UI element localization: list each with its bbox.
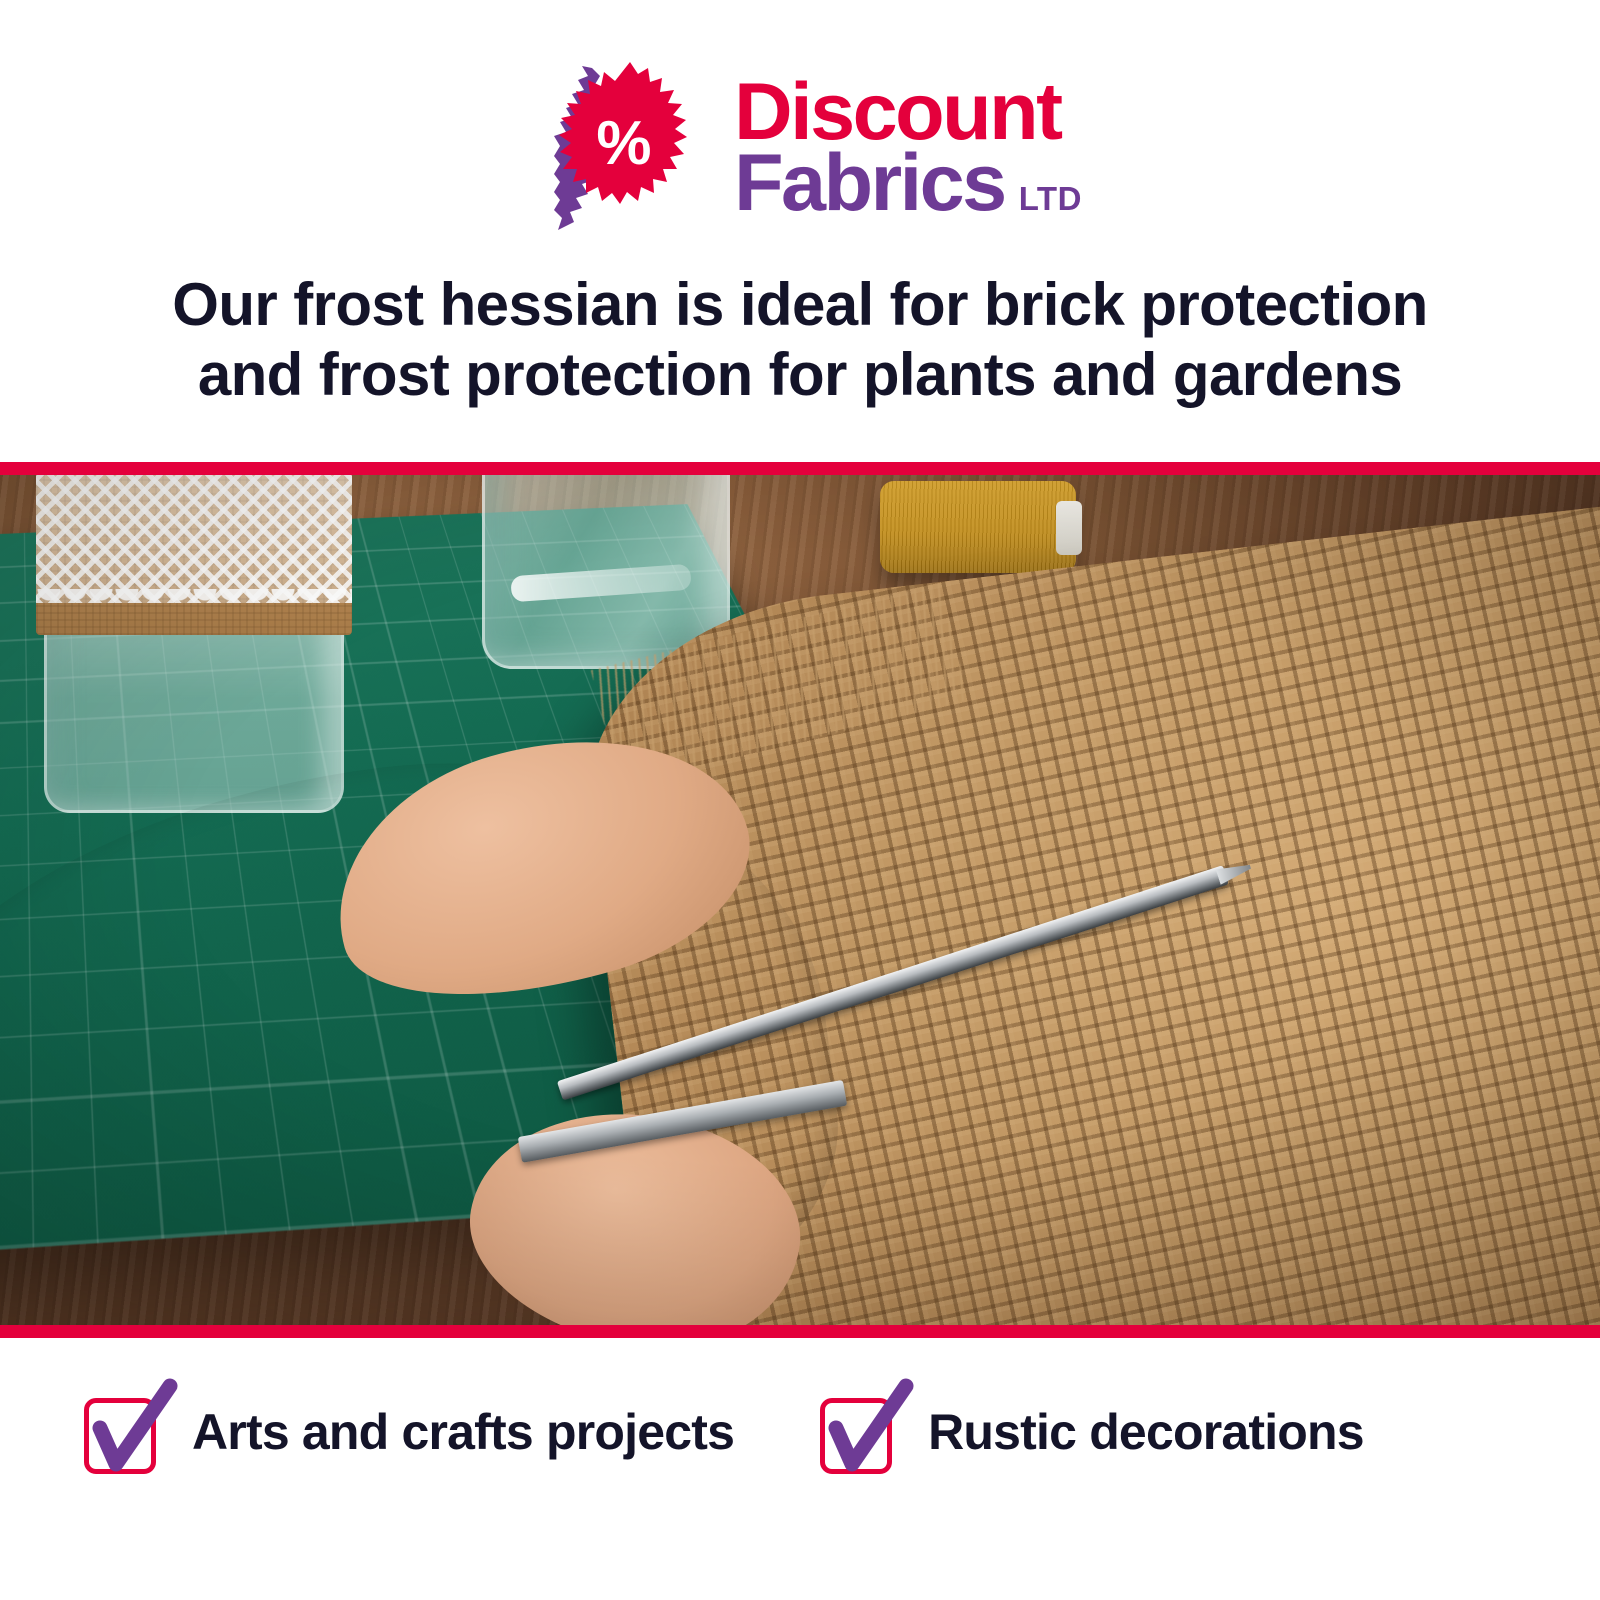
- headline-line-2: and frost protection for plants and gard…: [198, 341, 1402, 408]
- brand-lockup[interactable]: % Discount Fabrics LTD: [518, 58, 1082, 238]
- list-item: Arts and crafts projects: [84, 1390, 734, 1474]
- percent-glyph: %: [597, 109, 652, 178]
- divider-bottom: [0, 1325, 1600, 1338]
- feature-label: Arts and crafts projects: [192, 1403, 734, 1461]
- promo-card: % Discount Fabrics LTD Our frost hessian…: [0, 0, 1600, 1600]
- headline-line-1: Our frost hessian is ideal for brick pro…: [172, 271, 1427, 338]
- golden-thread-spool: [880, 481, 1076, 573]
- brand-suffix: LTD: [1019, 184, 1082, 213]
- brand-name-line2: Fabrics: [734, 148, 1005, 219]
- jar-lace-trim: [36, 475, 352, 603]
- feature-label: Rustic decorations: [928, 1403, 1364, 1461]
- brand-wordmark: Discount Fabrics LTD: [734, 77, 1082, 220]
- pinked-diamond-percent-icon: %: [518, 60, 704, 236]
- feature-list: Arts and crafts projects Rustic decorati…: [0, 1338, 1600, 1600]
- product-photo: [0, 475, 1600, 1325]
- list-item: Rustic decorations: [820, 1390, 1364, 1474]
- checkbox-checked-icon: [84, 1390, 158, 1474]
- lace-wrapped-jar: [36, 475, 354, 813]
- checkbox-checked-icon: [820, 1390, 894, 1474]
- page-title: Our frost hessian is ideal for brick pro…: [90, 270, 1510, 409]
- header: % Discount Fabrics LTD Our frost hessian…: [0, 0, 1600, 462]
- spool-end-cap: [1056, 501, 1082, 555]
- jar-lace-scallop: [36, 589, 352, 615]
- divider-top: [0, 462, 1600, 475]
